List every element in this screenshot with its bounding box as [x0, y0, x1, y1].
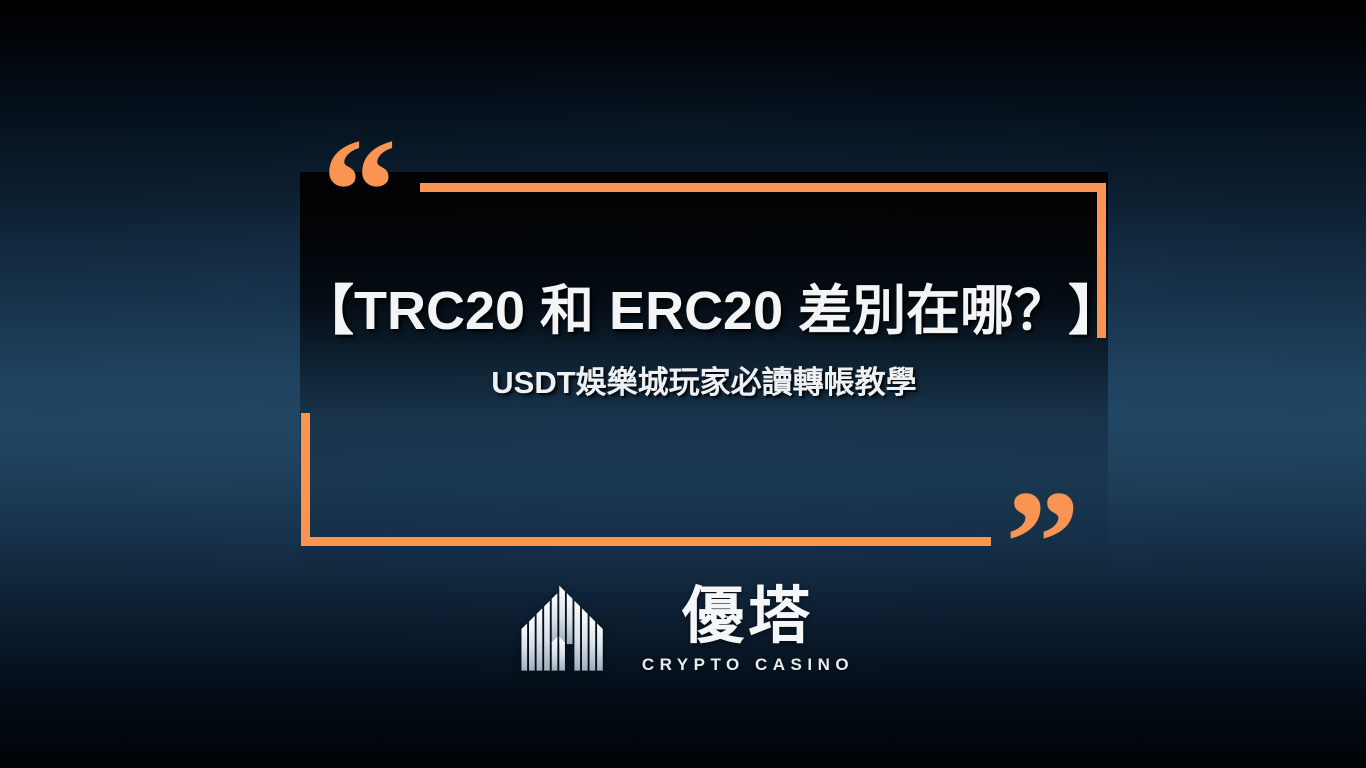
tower-building-icon — [512, 578, 616, 682]
brand-name-en: CRYPTO CASINO — [642, 655, 854, 675]
quote-open-icon: “ — [322, 116, 397, 266]
headline-block: 【TRC20 和 ERC20 差別在哪？】 USDT娛樂城玩家必讀轉帳教學 — [300, 280, 1108, 401]
page-subtitle: USDT娛樂城玩家必讀轉帳教學 — [300, 364, 1108, 401]
frame-bar-left — [301, 413, 310, 546]
page-title: 【TRC20 和 ERC20 差別在哪？】 — [300, 280, 1108, 342]
brand-wordmark: 優塔 CRYPTO CASINO — [642, 585, 854, 675]
brand-name-cn: 優塔 — [682, 585, 814, 648]
banner-canvas: “ ” 【TRC20 和 ERC20 差別在哪？】 USDT娛樂城玩家必讀轉帳教… — [0, 0, 1366, 768]
brand-logo: 優塔 CRYPTO CASINO — [0, 578, 1366, 682]
frame-bar-bottom — [301, 537, 991, 546]
frame-bar-top — [420, 183, 1106, 192]
